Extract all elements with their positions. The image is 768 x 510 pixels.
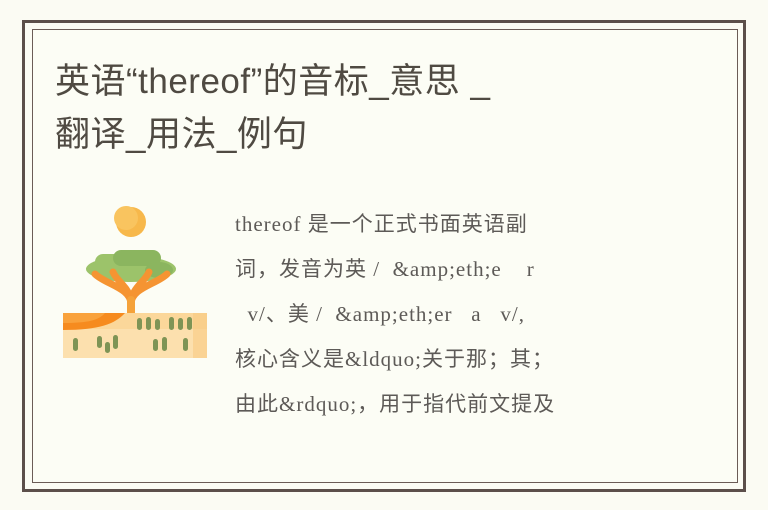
body-text: thereof 是一个正式书面英语副 词，发音为英 / &amp;eth;e r… [235,202,697,427]
body-text-line: v/、美 / &amp;eth;er a v/, [235,292,697,337]
body-text-line: 词，发音为英 / &amp;eth;e r [235,247,697,292]
body-text-line: thereof 是一个正式书面英语副 [235,202,697,247]
page-title-line-1: 英语“thereof”的音标_意思 _ [55,55,675,108]
body-text-line: 由此&rdquo;，用于指代前文提及 [235,382,697,427]
savanna-acacia-tree-illustration [55,196,215,361]
page-title: 英语“thereof”的音标_意思 _ 翻译_用法_例句 [55,55,675,161]
content-row: thereof 是一个正式书面英语副 词，发音为英 / &amp;eth;e r… [55,196,695,456]
body-text-line: 核心含义是&ldquo;关于那；其； [235,337,697,382]
page-root: 英语“thereof”的音标_意思 _ 翻译_用法_例句 [0,0,768,510]
page-title-line-2: 翻译_用法_例句 [55,108,675,161]
